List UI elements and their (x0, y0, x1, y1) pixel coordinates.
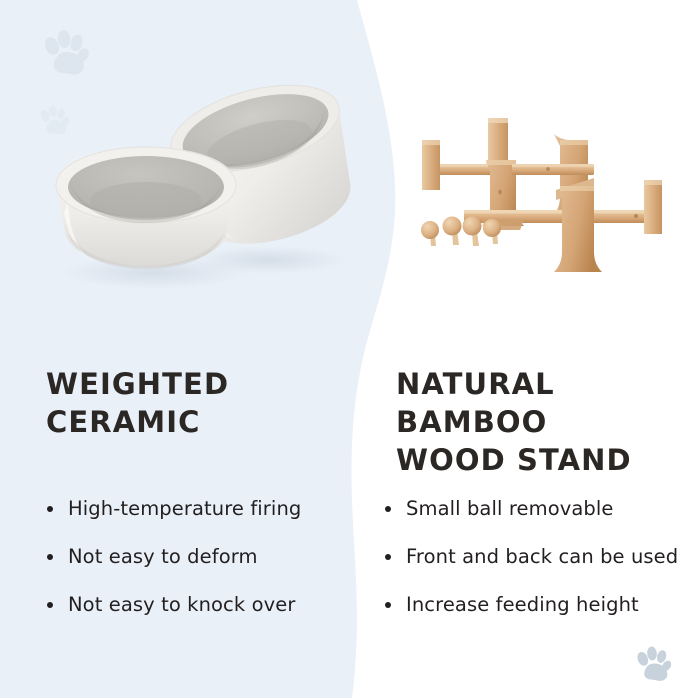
list-item: High-temperature firing (42, 497, 352, 521)
list-item: Not easy to deform (42, 545, 352, 569)
right-panel-feature-list: Small ball removable Front and back can … (380, 497, 679, 641)
left-panel-heading: WEIGHTED CERAMIC (46, 365, 346, 441)
right-panel-heading-line1: NATURAL BAMBOO (396, 365, 676, 441)
list-item: Small ball removable (380, 497, 679, 521)
right-panel-heading-line2: WOOD STAND (396, 441, 676, 479)
list-item: Increase feeding height (380, 593, 679, 617)
paw-print-bottom-right-icon (632, 645, 672, 685)
infographic-canvas: WEIGHTED CERAMIC High-temperature firing… (0, 0, 679, 698)
list-item: Front and back can be used (380, 545, 679, 569)
weighted-ceramic-text-block: WEIGHTED CERAMIC (46, 365, 346, 441)
natural-bamboo-text-block: NATURAL BAMBOO WOOD STAND (396, 365, 676, 479)
ceramic-bowls-image (34, 55, 352, 290)
bamboo-stand-image (408, 112, 676, 272)
wooden-ball-pegs (421, 217, 501, 247)
list-item: Not easy to knock over (42, 593, 352, 617)
left-panel-feature-list: High-temperature firing Not easy to defo… (42, 497, 352, 641)
